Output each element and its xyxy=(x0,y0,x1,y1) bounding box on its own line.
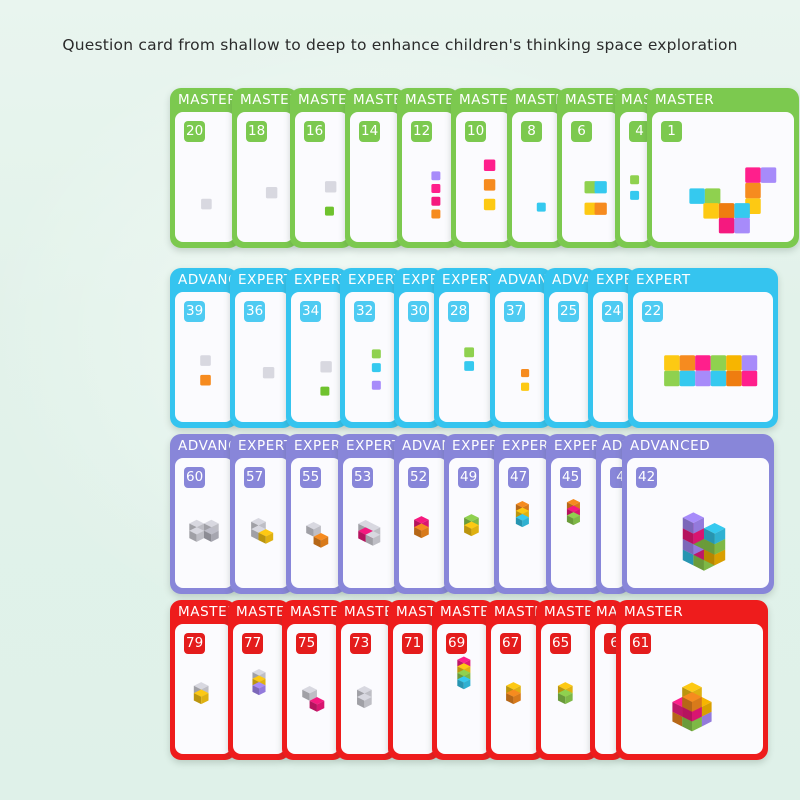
card-level-label: MASTER xyxy=(451,88,515,112)
question-card[interactable]: MASTER12 xyxy=(397,88,459,248)
card-level-label: MASTER xyxy=(282,600,344,624)
card-level-label: EXPERT xyxy=(230,434,294,458)
card-face: 22 xyxy=(633,292,773,422)
question-card[interactable]: MASTER6 xyxy=(557,88,623,248)
card-face: 53 xyxy=(343,458,397,588)
card-level-label: MASTER xyxy=(397,88,459,112)
card-face: 52 xyxy=(399,458,447,588)
card-puzzle-illustration xyxy=(652,138,794,236)
question-card[interactable]: MASTER16 xyxy=(290,88,353,248)
card-row-blue: ADVANCED39EXPERT36EXPERT34EXPERT32EXPERT… xyxy=(170,268,778,428)
card-level-label: ADVANCED xyxy=(622,434,774,458)
card-puzzle-illustration xyxy=(551,484,599,582)
card-puzzle-illustration xyxy=(237,138,293,236)
question-card[interactable]: ADVANCED42 xyxy=(622,434,774,594)
card-level-label: MASTER xyxy=(170,600,236,624)
card-puzzle-illustration xyxy=(345,318,397,416)
deck-red: MASTER79 MASTER77 MASTER75 MASTER73 MAST… xyxy=(170,600,768,760)
card-face: 25 xyxy=(549,292,591,422)
card-puzzle-illustration xyxy=(449,484,497,582)
card-face: 6 xyxy=(562,112,618,242)
card-puzzle-illustration xyxy=(399,318,437,416)
question-card[interactable]: MASTER65 xyxy=(536,600,598,760)
card-puzzle-illustration xyxy=(175,138,235,236)
card-face: 32 xyxy=(345,292,397,422)
card-face: 65 xyxy=(541,624,593,754)
card-level-label: MASTER xyxy=(432,600,494,624)
card-level-label: ADVANCED xyxy=(170,268,238,292)
card-puzzle-illustration xyxy=(620,138,650,236)
card-face: 8 xyxy=(512,112,560,242)
question-card[interactable]: MASTER69 xyxy=(432,600,494,760)
card-puzzle-illustration xyxy=(295,138,348,236)
card-level-label: MASTER xyxy=(536,600,598,624)
card-puzzle-illustration xyxy=(437,650,489,748)
card-row-red: MASTER79 MASTER77 MASTER75 MASTER73 MAST… xyxy=(170,600,768,760)
card-face: 75 xyxy=(287,624,339,754)
card-puzzle-illustration xyxy=(512,138,560,236)
card-face: 20 xyxy=(175,112,235,242)
card-face: 4 xyxy=(620,112,650,242)
card-face: 30 xyxy=(399,292,437,422)
question-card[interactable]: MASTER61 xyxy=(616,600,768,760)
card-puzzle-illustration xyxy=(233,650,285,748)
card-puzzle-illustration xyxy=(562,138,618,236)
question-card[interactable]: EXPERT47 xyxy=(494,434,554,594)
question-card[interactable]: ADVANCED37 xyxy=(490,268,552,428)
card-face: 42 xyxy=(627,458,769,588)
card-puzzle-illustration xyxy=(593,318,631,416)
question-card[interactable]: EXPERT57 xyxy=(230,434,294,594)
card-face: 49 xyxy=(449,458,497,588)
question-card[interactable]: ADVANCED60 xyxy=(170,434,238,594)
card-level-label: MASTER xyxy=(232,88,298,112)
card-puzzle-illustration xyxy=(393,650,435,748)
card-puzzle-illustration xyxy=(495,318,547,416)
card-level-label: MASTER xyxy=(345,88,405,112)
card-face: 37 xyxy=(495,292,547,422)
card-row-purple: ADVANCED60 EXPERT57 EXPERT55 EXPERT53 xyxy=(170,434,774,594)
card-level-label: EXPERT xyxy=(338,434,402,458)
card-puzzle-illustration xyxy=(456,138,510,236)
card-level-label: MASTER xyxy=(616,600,768,624)
card-level-label: EXPERT xyxy=(340,268,402,292)
card-puzzle-illustration xyxy=(633,318,773,416)
card-level-label: ADVANCED xyxy=(490,268,552,292)
card-puzzle-illustration xyxy=(235,484,289,582)
deck-blue: ADVANCED39EXPERT36EXPERT34EXPERT32EXPERT… xyxy=(170,268,778,428)
card-level-label: EXPERT xyxy=(286,268,348,292)
card-face: 18 xyxy=(237,112,293,242)
card-face: 79 xyxy=(175,624,231,754)
question-card[interactable]: EXPERT53 xyxy=(338,434,402,594)
card-level-label: EXPERT xyxy=(230,268,294,292)
card-puzzle-illustration xyxy=(175,318,233,416)
deck-purple: ADVANCED60 EXPERT57 EXPERT55 EXPERT53 xyxy=(170,434,774,594)
card-puzzle-illustration xyxy=(541,650,593,748)
card-face: 77 xyxy=(233,624,285,754)
card-puzzle-illustration xyxy=(627,484,769,582)
card-puzzle-illustration xyxy=(402,138,454,236)
card-face: 60 xyxy=(175,458,233,588)
card-puzzle-illustration xyxy=(341,650,391,748)
deck-green: MASTER20MASTER18MASTER16MASTER14MASTER12… xyxy=(170,88,799,248)
card-level-label: MASTER xyxy=(228,600,290,624)
card-face: 12 xyxy=(402,112,454,242)
card-face: 47 xyxy=(499,458,549,588)
card-level-label: MASTER xyxy=(336,600,396,624)
product-photo-stage: Question card from shallow to deep to en… xyxy=(0,0,800,800)
card-puzzle-illustration xyxy=(621,650,763,748)
card-puzzle-illustration xyxy=(399,484,447,582)
card-face: 34 xyxy=(291,292,343,422)
card-level-label: MASTER xyxy=(647,88,799,112)
card-puzzle-illustration xyxy=(350,138,400,236)
card-puzzle-illustration xyxy=(175,484,233,582)
card-level-label: EXPERT xyxy=(286,434,346,458)
question-card[interactable]: MASTER14 xyxy=(345,88,405,248)
card-row-green: MASTER20MASTER18MASTER16MASTER14MASTER12… xyxy=(170,88,799,248)
card-puzzle-illustration xyxy=(499,484,549,582)
card-level-label: ADVANCED xyxy=(170,434,238,458)
card-face: 16 xyxy=(295,112,348,242)
card-face: 36 xyxy=(235,292,289,422)
card-level-label: MASTER xyxy=(557,88,623,112)
card-face: 39 xyxy=(175,292,233,422)
card-level-label: MASTER xyxy=(290,88,353,112)
card-puzzle-illustration xyxy=(491,650,539,748)
card-face: 24 xyxy=(593,292,631,422)
question-card[interactable]: EXPERT32 xyxy=(340,268,402,428)
question-card[interactable]: MASTER79 xyxy=(170,600,236,760)
question-card[interactable]: EXPERT36 xyxy=(230,268,294,428)
question-card[interactable]: MASTER10 xyxy=(451,88,515,248)
card-face: 61 xyxy=(621,624,763,754)
card-puzzle-illustration xyxy=(291,484,341,582)
card-face: 55 xyxy=(291,458,341,588)
card-level-label: EXPERT xyxy=(434,268,498,292)
card-face: 1 xyxy=(652,112,794,242)
card-puzzle-illustration xyxy=(343,484,397,582)
question-card[interactable]: ADVANCED39 xyxy=(170,268,238,428)
question-card[interactable]: EXPERT22 xyxy=(628,268,778,428)
question-card[interactable]: MASTER73 xyxy=(336,600,396,760)
card-face: 69 xyxy=(437,624,489,754)
card-puzzle-illustration xyxy=(549,318,591,416)
card-level-label: MASTER xyxy=(170,88,240,112)
card-face: 57 xyxy=(235,458,289,588)
card-face: 73 xyxy=(341,624,391,754)
card-face: 71 xyxy=(393,624,435,754)
card-face: 10 xyxy=(456,112,510,242)
question-card[interactable]: MASTER75 xyxy=(282,600,344,760)
question-card[interactable]: EXPERT28 xyxy=(434,268,498,428)
card-puzzle-illustration xyxy=(439,318,493,416)
question-card[interactable]: MASTER77 xyxy=(228,600,290,760)
page-title: Question card from shallow to deep to en… xyxy=(0,36,800,54)
question-card[interactable]: MASTER18 xyxy=(232,88,298,248)
question-card[interactable]: MASTER1 xyxy=(647,88,799,248)
card-face: 14 xyxy=(350,112,400,242)
card-puzzle-illustration xyxy=(235,318,289,416)
card-face: 28 xyxy=(439,292,493,422)
question-card[interactable]: EXPERT34 xyxy=(286,268,348,428)
card-level-label: EXPERT xyxy=(628,268,778,292)
card-puzzle-illustration xyxy=(291,318,343,416)
card-face: 67 xyxy=(491,624,539,754)
question-card[interactable]: EXPERT55 xyxy=(286,434,346,594)
question-card[interactable]: MASTER20 xyxy=(170,88,240,248)
card-face: 45 xyxy=(551,458,599,588)
card-level-label: EXPERT xyxy=(494,434,554,458)
card-puzzle-illustration xyxy=(175,650,231,748)
card-puzzle-illustration xyxy=(287,650,339,748)
